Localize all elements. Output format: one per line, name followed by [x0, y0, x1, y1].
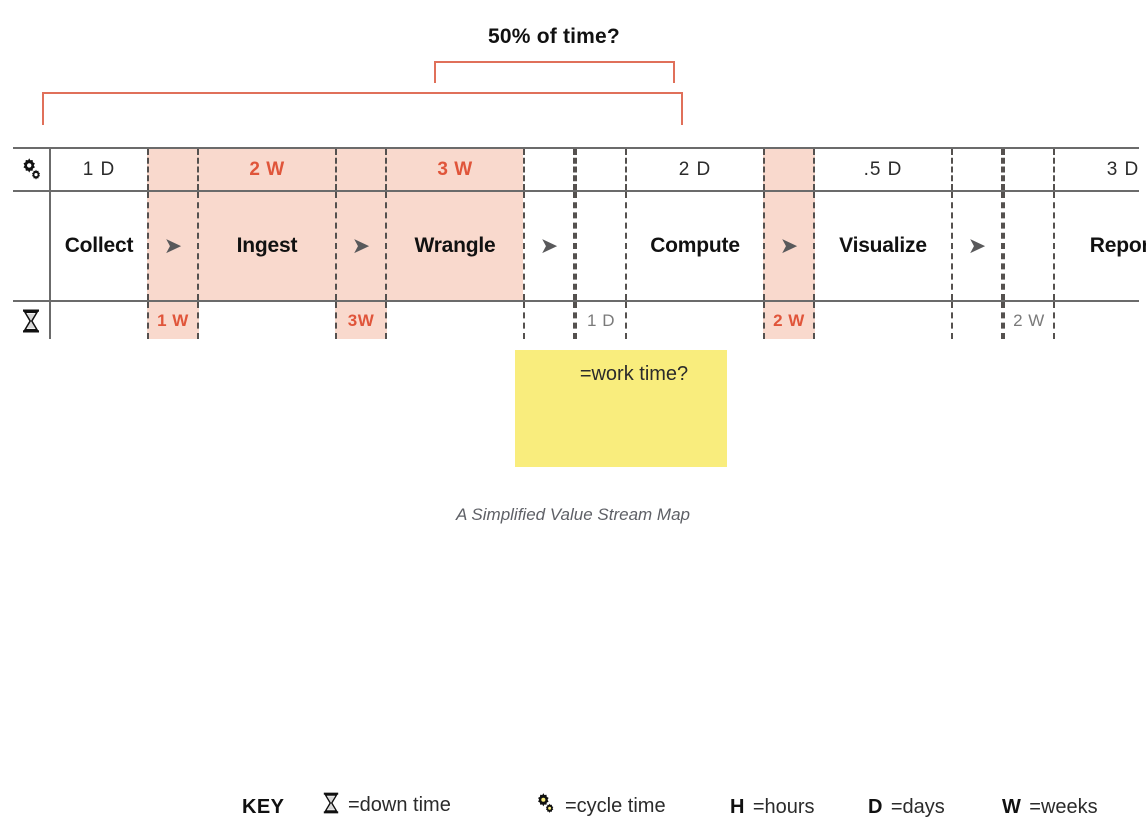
cycle-time-cell: 2 W	[199, 149, 335, 190]
down-time-cells: 1 W3W1 D2 W2 W1 W	[51, 302, 1146, 339]
bracket-inner	[434, 61, 675, 83]
cycle-time-value: 1 D	[83, 159, 116, 181]
process-step-cell: Wrangle	[387, 192, 523, 300]
down-time-value: 1 D	[587, 311, 615, 331]
key-item-hours: H =hours	[730, 796, 815, 819]
cycle-time-value: .5 D	[864, 159, 903, 181]
flow-arrow-cell: ➤	[523, 192, 575, 300]
cycle-time-value: 2 D	[679, 159, 712, 181]
cycle-time-cell	[523, 149, 575, 190]
key-item-weeks: W =weeks	[1002, 796, 1098, 819]
key-hours-label: =hours	[753, 796, 815, 819]
work-time-annotation: =work time?	[515, 363, 727, 386]
hourglass-icon	[322, 792, 340, 819]
cycle-time-cell: 3 W	[387, 149, 523, 190]
key-days-label: =days	[891, 796, 945, 819]
arrow-right-icon: ➤	[164, 235, 182, 257]
process-step-cell: Report	[1055, 192, 1146, 300]
key-item-days: D =days	[868, 796, 945, 819]
arrow-right-icon: ➤	[780, 235, 798, 257]
key-cycle-time-label: =cycle time	[565, 795, 666, 818]
bracket-outer	[42, 92, 683, 125]
hourglass-icon	[13, 302, 51, 339]
cycle-time-cell	[951, 149, 1003, 190]
flow-arrow-cell: ➤	[335, 192, 387, 300]
process-step-label: Visualize	[839, 234, 927, 258]
cycle-time-cell: 3 D	[1055, 149, 1146, 190]
key-weeks-label: =weeks	[1029, 796, 1097, 819]
down-time-cell: 1 W	[147, 302, 199, 339]
down-time-cell	[1055, 302, 1146, 339]
down-time-cell: 1 D	[575, 302, 627, 339]
annotation-layer: 50% of time?	[0, 0, 1146, 148]
gears-icon	[533, 792, 557, 821]
arrow-right-icon: ➤	[968, 235, 986, 257]
cycle-time-cell	[763, 149, 815, 190]
arrow-right-icon: ➤	[352, 235, 370, 257]
process-step-cell: Collect	[51, 192, 147, 300]
key-item-down-time: =down time	[322, 792, 451, 819]
key-title-label: KEY	[242, 796, 284, 819]
cycle-time-row: 1 D2 W3 W2 D.5 D3 D4 H	[13, 149, 1139, 192]
cycle-time-value: 2 W	[249, 159, 284, 181]
down-time-cell	[815, 302, 951, 339]
process-step-label: Ingest	[237, 234, 298, 258]
key-down-time-label: =down time	[348, 794, 451, 817]
down-time-value: 3W	[348, 311, 375, 331]
process-step-label: Collect	[65, 234, 134, 258]
key-legend: KEY =down time	[0, 392, 1146, 440]
cycle-time-cell: 1 D	[51, 149, 147, 190]
flow-arrow-cell: ➤	[147, 192, 199, 300]
down-time-cell	[627, 302, 763, 339]
cycle-time-cell	[335, 149, 387, 190]
hourglass-icon-glyph	[21, 309, 41, 333]
down-time-cell: 3W	[335, 302, 387, 339]
process-step-cell: Compute	[627, 192, 763, 300]
key-title: KEY	[242, 796, 284, 819]
down-time-cell	[951, 302, 1003, 339]
cycle-time-value: 3 W	[437, 159, 472, 181]
down-time-cell	[199, 302, 335, 339]
down-time-cell: 2 W	[1003, 302, 1055, 339]
cycle-time-cell	[575, 149, 627, 190]
down-time-row: 1 W3W1 D2 W2 W1 W	[13, 302, 1139, 339]
cycle-time-cell	[147, 149, 199, 190]
value-stream-map: 1 D2 W3 W2 D.5 D3 D4 H Collect➤Ingest➤Wr…	[13, 147, 1139, 339]
down-time-cell: 2 W	[763, 302, 815, 339]
key-hours-symbol: H	[730, 796, 745, 819]
cycle-time-value: 3 D	[1107, 159, 1140, 181]
key-days-symbol: D	[868, 796, 883, 819]
key-weeks-symbol: W	[1002, 796, 1021, 819]
down-time-value: 1 W	[157, 311, 189, 331]
flow-arrow-cell: ➤	[951, 192, 1003, 300]
cycle-time-cells: 1 D2 W3 W2 D.5 D3 D4 H	[51, 149, 1146, 190]
process-cells: Collect➤Ingest➤Wrangle➤Compute➤Visualize…	[51, 192, 1146, 300]
figure-caption: A Simplified Value Stream Map	[0, 505, 1146, 525]
down-time-value: 2 W	[1013, 311, 1045, 331]
flow-arrow-cell: ➤	[763, 192, 815, 300]
gears-icon-glyph	[18, 157, 44, 183]
process-step-label: Wrangle	[414, 234, 495, 258]
process-step-cell: Visualize	[815, 192, 951, 300]
cycle-time-cell: .5 D	[815, 149, 951, 190]
process-step-label: Compute	[650, 234, 740, 258]
arrow-right-icon: ➤	[540, 235, 558, 257]
process-row: Collect➤Ingest➤Wrangle➤Compute➤Visualize…	[13, 192, 1139, 302]
down-time-cell	[523, 302, 575, 339]
cycle-time-cell	[1003, 149, 1055, 190]
fifty-percent-annotation: 50% of time?	[434, 25, 674, 49]
process-step-cell	[575, 192, 627, 300]
down-time-cell	[387, 302, 523, 339]
process-step-cell	[1003, 192, 1055, 300]
process-step-label: Report	[1090, 234, 1146, 258]
key-item-cycle-time: =cycle time	[533, 792, 666, 821]
cycle-time-cell: 2 D	[627, 149, 763, 190]
process-step-cell: Ingest	[199, 192, 335, 300]
down-time-cell	[51, 302, 147, 339]
process-row-spacer	[13, 192, 51, 300]
down-time-value: 2 W	[773, 311, 805, 331]
gears-icon	[13, 149, 51, 190]
